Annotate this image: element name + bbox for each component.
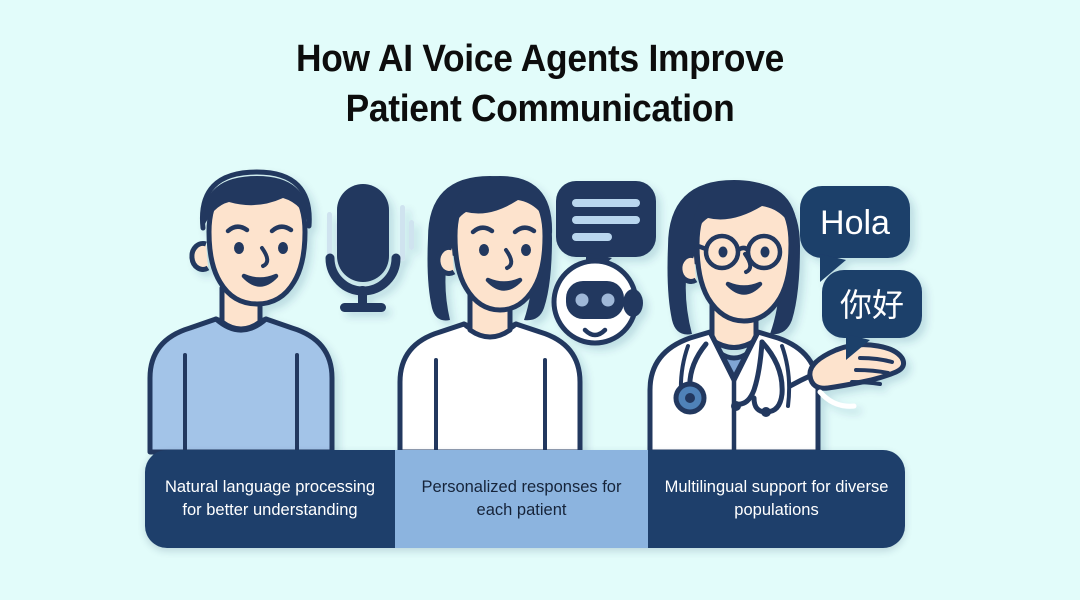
benefit-nlp[interactable]: Natural language processing for better u… [145, 450, 395, 548]
benefits-banner: Natural language processing for better u… [145, 450, 905, 548]
female-patient [400, 176, 580, 452]
speech-bubble-nihao-text: 你好 [840, 286, 904, 324]
speech-bubble-hola: Hola [800, 186, 910, 282]
microphone-icon [327, 184, 414, 312]
male-patient [150, 172, 332, 452]
infographic-canvas: How AI Voice Agents Improve Patient Comm… [0, 0, 1080, 600]
benefit-personalized[interactable]: Personalized responses for each patient [395, 450, 648, 548]
speech-bubble-hola-text: Hola [820, 204, 890, 242]
robot-avatar [554, 261, 643, 343]
benefit-multilingual[interactable]: Multilingual support for diverse populat… [648, 450, 905, 548]
